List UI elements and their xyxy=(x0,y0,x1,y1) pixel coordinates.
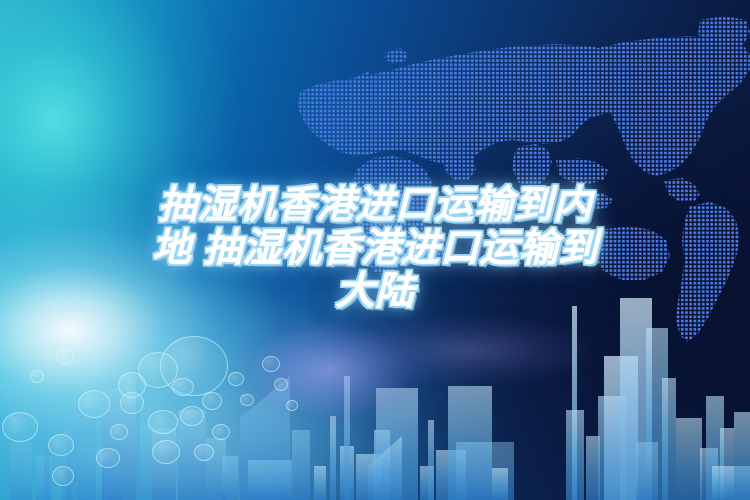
headline-line-3: 大陆 xyxy=(0,270,750,313)
bubble xyxy=(286,400,298,411)
skyline-left-cluster xyxy=(10,430,122,500)
bubble xyxy=(56,348,74,364)
bubble xyxy=(152,440,180,464)
bubble xyxy=(52,466,74,486)
bubble xyxy=(194,444,214,461)
violet-haze-secondary xyxy=(0,0,750,500)
headline-block: 抽湿机香港进口运输到内 地 抽湿机香港进口运输到 大陆 xyxy=(0,184,750,313)
skyline-left-centre xyxy=(44,370,206,500)
dotted-world-map xyxy=(0,0,750,500)
skyline-centre xyxy=(206,376,310,500)
violet-haze-primary xyxy=(0,0,750,500)
white-glow-bottom-left xyxy=(0,0,750,500)
bubble xyxy=(30,370,44,383)
bubble xyxy=(240,394,254,406)
bubble xyxy=(118,372,146,398)
headline-line-1: 抽湿机香港进口运输到内 xyxy=(0,184,750,227)
bubble xyxy=(212,424,230,440)
bubble xyxy=(48,434,74,456)
bubble xyxy=(148,410,178,434)
skyline-right-cluster xyxy=(676,396,750,500)
bubble xyxy=(120,392,144,414)
floating-bubbles xyxy=(0,0,750,500)
bubble xyxy=(2,412,38,442)
background-base-gradient xyxy=(0,0,750,500)
skyline-spires xyxy=(566,298,676,500)
bubble xyxy=(78,390,110,418)
world-map-dots xyxy=(0,0,750,500)
blue-wash-bottom-left xyxy=(0,0,750,500)
skyline-right-centre xyxy=(314,376,514,500)
bubble xyxy=(180,406,204,426)
headline-line-2: 地 抽湿机香港进口运输到 xyxy=(0,227,750,270)
bubble xyxy=(202,392,222,410)
bubble xyxy=(172,378,194,396)
bubble xyxy=(262,356,280,372)
dark-vignette-right xyxy=(0,0,750,500)
city-skyline-silhouette xyxy=(0,270,750,500)
bubble xyxy=(160,336,228,396)
bubble xyxy=(110,424,128,440)
cyan-glow-top-left xyxy=(0,0,750,500)
bubble xyxy=(274,378,288,391)
bubble xyxy=(96,448,120,468)
promo-banner: 抽湿机香港进口运输到内 地 抽湿机香港进口运输到 大陆 xyxy=(0,0,750,500)
bubble xyxy=(228,372,244,386)
skyline-left-facet xyxy=(368,436,402,500)
bubble xyxy=(138,352,178,388)
